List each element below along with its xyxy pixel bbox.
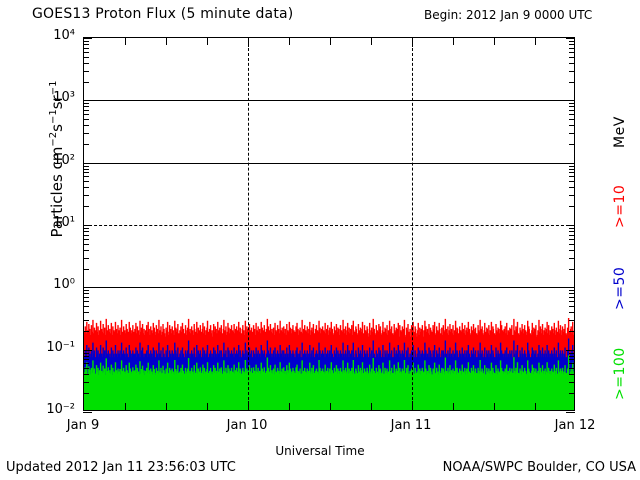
y-tick-minor bbox=[83, 110, 89, 111]
y-tick-minor bbox=[83, 368, 89, 369]
y-tick-minor-right bbox=[569, 144, 575, 145]
y-tick-major-right bbox=[566, 287, 575, 288]
y-tick-minor bbox=[83, 106, 89, 107]
y-tick-minor-right bbox=[569, 297, 575, 298]
y-tick-major bbox=[83, 350, 92, 351]
y-tick-minor bbox=[83, 301, 89, 302]
y-tick-minor-right bbox=[569, 44, 575, 45]
y-tick-minor bbox=[83, 269, 89, 270]
x-tick-bottom bbox=[371, 403, 372, 410]
y-tick-minor bbox=[83, 187, 89, 188]
y-tick-minor-right bbox=[569, 110, 575, 111]
y-tick-minor-right bbox=[569, 176, 575, 177]
x-tick-bottom bbox=[248, 401, 249, 410]
y-tick-minor-right bbox=[569, 82, 575, 83]
hgridline-solid bbox=[84, 287, 574, 288]
y-tick-minor bbox=[83, 125, 89, 126]
y-tick-minor bbox=[83, 363, 89, 364]
y-tick-minor bbox=[83, 297, 89, 298]
y-tick-minor bbox=[83, 41, 89, 42]
y-tick-minor-right bbox=[569, 235, 575, 236]
y-tick-minor bbox=[83, 356, 89, 357]
y-tick-minor bbox=[83, 176, 89, 177]
y-tick-minor bbox=[83, 312, 89, 313]
y-tick-minor bbox=[83, 393, 89, 394]
y-tick-minor-right bbox=[569, 103, 575, 104]
chart-title: GOES13 Proton Flux (5 minute data) bbox=[32, 6, 293, 22]
y-tick-minor-right bbox=[569, 48, 575, 49]
x-tick-top bbox=[412, 38, 413, 47]
y-tick-major bbox=[83, 163, 92, 164]
y-tick-minor-right bbox=[569, 353, 575, 354]
y-tick-minor-right bbox=[569, 106, 575, 107]
y-tick-minor bbox=[83, 206, 89, 207]
y-tick-minor bbox=[83, 382, 89, 383]
y-tick-minor-right bbox=[569, 393, 575, 394]
y-tick-minor bbox=[83, 52, 89, 53]
y-tick-minor-right bbox=[569, 269, 575, 270]
legend-units-label: MeV bbox=[612, 116, 628, 148]
y-tick-minor bbox=[83, 228, 89, 229]
y-tick-minor-right bbox=[569, 363, 575, 364]
y-tick-minor-right bbox=[569, 374, 575, 375]
y-tick-minor-right bbox=[569, 119, 575, 120]
y-tick-minor bbox=[83, 244, 89, 245]
y-tick-minor-right bbox=[569, 331, 575, 332]
x-tick-top bbox=[166, 38, 167, 45]
y-tick-major-right bbox=[566, 163, 575, 164]
y-tick-major bbox=[83, 100, 92, 101]
y-tick-minor-right bbox=[569, 172, 575, 173]
y-tick-major bbox=[83, 38, 92, 39]
x-tick-bottom bbox=[412, 401, 413, 410]
y-tick-minor-right bbox=[569, 312, 575, 313]
x-tick-top bbox=[248, 38, 249, 47]
y-tick-label: 10⁻² bbox=[25, 403, 75, 416]
y-tick-major-right bbox=[566, 100, 575, 101]
y-tick-minor bbox=[83, 63, 89, 64]
y-tick-major bbox=[83, 287, 92, 288]
y-tick-major-right bbox=[566, 350, 575, 351]
x-tick-top bbox=[453, 38, 454, 45]
y-tick-major bbox=[83, 225, 92, 226]
y-tick-minor bbox=[83, 181, 89, 182]
x-tick-top bbox=[125, 38, 126, 45]
y-tick-minor-right bbox=[569, 228, 575, 229]
x-tick-bottom bbox=[330, 403, 331, 410]
x-tick-bottom bbox=[535, 403, 536, 410]
x-tick-bottom bbox=[207, 403, 208, 410]
y-tick-minor-right bbox=[569, 244, 575, 245]
footer-updated-text: Updated 2012 Jan 11 23:56:03 UTC bbox=[6, 460, 236, 475]
y-tick-minor bbox=[83, 231, 89, 232]
y-tick-minor bbox=[83, 239, 89, 240]
legend-entry-ge100: >=100 bbox=[612, 347, 628, 400]
x-tick-label: Jan 11 bbox=[371, 418, 451, 433]
y-tick-minor-right bbox=[569, 368, 575, 369]
vgridline-day bbox=[248, 38, 249, 410]
y-tick-minor-right bbox=[569, 63, 575, 64]
y-tick-minor-right bbox=[569, 41, 575, 42]
y-tick-major-right bbox=[566, 412, 575, 413]
y-tick-minor-right bbox=[569, 290, 575, 291]
y-tick-minor bbox=[83, 57, 89, 58]
begin-time-label: Begin: 2012 Jan 9 0000 UTC bbox=[424, 8, 592, 22]
y-tick-minor-right bbox=[569, 301, 575, 302]
x-tick-top bbox=[494, 38, 495, 45]
x-tick-bottom bbox=[166, 403, 167, 410]
y-tick-minor-right bbox=[569, 382, 575, 383]
y-tick-minor-right bbox=[569, 71, 575, 72]
y-tick-minor-right bbox=[569, 187, 575, 188]
plot-area bbox=[83, 37, 575, 411]
y-tick-minor bbox=[83, 82, 89, 83]
y-tick-minor-right bbox=[569, 166, 575, 167]
legend-entry-ge10: >=10 bbox=[612, 185, 628, 228]
y-tick-minor-right bbox=[569, 356, 575, 357]
y-tick-minor-right bbox=[569, 320, 575, 321]
y-tick-minor-right bbox=[569, 133, 575, 134]
hgridline-solid bbox=[84, 100, 574, 101]
y-tick-minor-right bbox=[569, 306, 575, 307]
x-tick-label: Jan 9 bbox=[43, 418, 123, 433]
x-tick-top bbox=[207, 38, 208, 45]
y-tick-minor-right bbox=[569, 206, 575, 207]
y-tick-minor bbox=[83, 306, 89, 307]
y-tick-minor bbox=[83, 359, 89, 360]
y-tick-minor bbox=[83, 169, 89, 170]
legend-entry-ge50: >=50 bbox=[612, 267, 628, 310]
y-tick-minor bbox=[83, 290, 89, 291]
y-tick-minor bbox=[83, 195, 89, 196]
y-tick-minor bbox=[83, 320, 89, 321]
x-tick-top bbox=[330, 38, 331, 45]
y-tick-minor bbox=[83, 44, 89, 45]
y-tick-minor-right bbox=[569, 258, 575, 259]
x-tick-label: Jan 12 bbox=[535, 418, 615, 433]
y-axis-title: Particles cm−2s−1sr−1 bbox=[48, 9, 66, 309]
y-tick-minor bbox=[83, 293, 89, 294]
y-tick-minor-right bbox=[569, 195, 575, 196]
y-tick-minor bbox=[83, 114, 89, 115]
y-tick-minor bbox=[83, 103, 89, 104]
y-tick-minor bbox=[83, 250, 89, 251]
x-tick-label: Jan 10 bbox=[207, 418, 287, 433]
y-tick-minor-right bbox=[569, 250, 575, 251]
y-axis-title-text: Particles cm−2s−1sr−1 bbox=[48, 81, 66, 238]
y-tick-minor-right bbox=[569, 293, 575, 294]
y-tick-minor-right bbox=[569, 181, 575, 182]
x-tick-bottom bbox=[289, 403, 290, 410]
x-tick-top bbox=[289, 38, 290, 45]
y-tick-minor-right bbox=[569, 231, 575, 232]
y-tick-minor bbox=[83, 353, 89, 354]
y-tick-major-right bbox=[566, 38, 575, 39]
plot-inner bbox=[84, 38, 574, 410]
y-tick-minor bbox=[83, 71, 89, 72]
x-axis-title: Universal Time bbox=[0, 444, 640, 458]
series-canvas bbox=[84, 38, 574, 410]
y-tick-minor-right bbox=[569, 359, 575, 360]
x-tick-bottom bbox=[125, 403, 126, 410]
vgridline-day bbox=[412, 38, 413, 410]
y-tick-minor bbox=[83, 374, 89, 375]
y-tick-label: 10⁻¹ bbox=[25, 341, 75, 354]
y-tick-minor bbox=[83, 172, 89, 173]
y-tick-minor-right bbox=[569, 52, 575, 53]
y-tick-minor bbox=[83, 144, 89, 145]
y-tick-major bbox=[83, 412, 92, 413]
y-tick-minor bbox=[83, 258, 89, 259]
hgridline-solid bbox=[84, 163, 574, 164]
x-tick-top bbox=[371, 38, 372, 45]
x-tick-top bbox=[535, 38, 536, 45]
y-tick-minor-right bbox=[569, 169, 575, 170]
y-tick-major-right bbox=[566, 225, 575, 226]
y-tick-minor-right bbox=[569, 125, 575, 126]
x-tick-bottom bbox=[494, 403, 495, 410]
y-tick-minor-right bbox=[569, 239, 575, 240]
y-tick-minor bbox=[83, 166, 89, 167]
y-tick-minor bbox=[83, 48, 89, 49]
y-tick-minor bbox=[83, 331, 89, 332]
x-tick-bottom bbox=[453, 403, 454, 410]
y-tick-minor-right bbox=[569, 114, 575, 115]
y-tick-minor bbox=[83, 119, 89, 120]
y-tick-minor bbox=[83, 133, 89, 134]
footer-source-text: NOAA/SWPC Boulder, CO USA bbox=[443, 460, 636, 475]
y-tick-minor-right bbox=[569, 57, 575, 58]
y-tick-minor bbox=[83, 235, 89, 236]
hgridline-dashed bbox=[84, 225, 574, 226]
